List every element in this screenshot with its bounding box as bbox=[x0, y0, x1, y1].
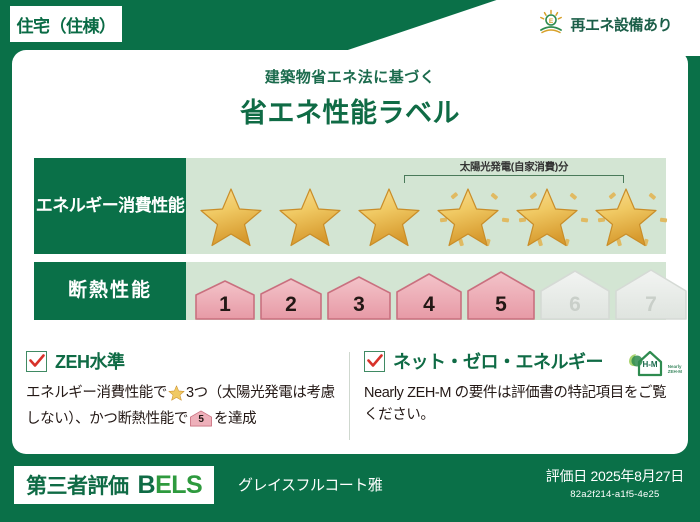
insulation-level-4: 4 bbox=[395, 271, 463, 322]
insulation-level-scale: 1 2 3 bbox=[194, 267, 688, 322]
bels-third-party-label: 第三者評価 bbox=[26, 470, 129, 500]
insulation-levels-area: 1 2 3 bbox=[186, 262, 666, 320]
building-type-label: 住宅（住棟） bbox=[17, 12, 116, 37]
label-subtitle: 建築物省エネ法に基づく bbox=[12, 66, 688, 87]
footer: 第三者評価 BELS グレイスフルコート雅 評価日 2025年8月27日 82a… bbox=[0, 454, 700, 522]
svg-text:E: E bbox=[549, 18, 554, 25]
sun-renewable-icon: E bbox=[538, 9, 564, 40]
star-6-solar bbox=[587, 182, 666, 248]
energy-performance-row: エネルギー消費性能 太陽光発電(自家消費)分 bbox=[34, 158, 666, 254]
insulation-level-5: 5 bbox=[466, 269, 536, 322]
star-3 bbox=[350, 182, 429, 248]
bels-logo: BELS bbox=[138, 471, 203, 500]
renewable-equipment-badge: E 再エネ設備あり bbox=[530, 6, 684, 42]
energy-performance-stars-area: 太陽光発電(自家消費)分 bbox=[186, 158, 666, 254]
svg-text:H-M: H-M bbox=[642, 360, 657, 369]
zeh-m-house-logo: H-M Nearly ZEH-M bbox=[626, 348, 682, 378]
house-level-5-icon: 5 bbox=[189, 410, 213, 427]
evaluation-date: 評価日 2025年8月27日 bbox=[546, 466, 684, 486]
star-rating bbox=[192, 182, 666, 248]
bels-logo-els: ELS bbox=[155, 471, 202, 499]
insulation-level-5-number: 5 bbox=[495, 293, 507, 322]
renewable-badge-label: 再エネ設備あり bbox=[570, 14, 672, 35]
insulation-level-3: 3 bbox=[326, 274, 392, 322]
title-block: 建築物省エネ法に基づく 省エネ性能ラベル bbox=[12, 50, 688, 130]
energy-performance-label-block: エネルギー消費性能 bbox=[34, 158, 186, 254]
bels-certification-chip: 第三者評価 BELS bbox=[14, 466, 214, 504]
page-title: 省エネ性能ラベル bbox=[12, 91, 688, 130]
insulation-level-3-number: 3 bbox=[353, 293, 365, 322]
building-name: グレイスフルコート雅 bbox=[238, 474, 382, 495]
check-icon bbox=[364, 351, 385, 372]
insulation-level-1-number: 1 bbox=[219, 293, 231, 322]
net-zero-energy-description: Nearly ZEH-M の要件は評価書の特記項目をご覧ください。 bbox=[364, 382, 674, 427]
insulation-level-7: 7 bbox=[614, 267, 688, 322]
zeh-standard-title: ZEH水準 bbox=[55, 348, 125, 374]
insulation-level-1: 1 bbox=[194, 278, 256, 322]
insulation-level-6: 6 bbox=[539, 268, 611, 322]
insulation-performance-row: 断熱性能 1 bbox=[34, 262, 666, 320]
solar-annotation-text: 太陽光発電(自家消費)分 bbox=[402, 159, 626, 174]
star-icon bbox=[168, 385, 185, 408]
zeh-m-logo-subtext: Nearly ZEH-M bbox=[668, 364, 682, 378]
main-panel: 建築物省エネ法に基づく 省エネ性能ラベル エネルギー消費性能 太陽光発電(自家消… bbox=[12, 50, 688, 454]
energy-performance-label-text: エネルギー消費性能 bbox=[36, 195, 185, 216]
net-zero-energy-section: ネット・ゼロ・エネルギー H-M Nearly ZEH-M Nearly ZEH… bbox=[350, 346, 688, 450]
star-4-solar bbox=[429, 182, 508, 248]
check-icon bbox=[26, 351, 47, 372]
house-level-5-icon-number: 5 bbox=[189, 410, 213, 427]
net-zero-energy-title: ネット・ゼロ・エネルギー bbox=[393, 348, 603, 374]
bels-logo-b: B bbox=[138, 471, 156, 499]
star-5-solar bbox=[508, 182, 587, 248]
evaluation-id: 82a2f214-a1f5-4e25 bbox=[546, 489, 684, 500]
zeh-sections: ZEH水準 エネルギー消費性能で3つ（太陽光発電は考慮しない）、かつ断熱性能で5… bbox=[12, 346, 688, 450]
star-1 bbox=[192, 182, 271, 248]
insulation-level-2-number: 2 bbox=[285, 293, 297, 322]
insulation-level-4-number: 4 bbox=[423, 293, 435, 322]
insulation-label-text: 断熱性能 bbox=[68, 279, 152, 303]
insulation-level-7-number: 7 bbox=[645, 293, 657, 322]
insulation-level-6-number: 6 bbox=[569, 293, 581, 322]
energy-performance-label: 住宅（住棟） E 再エネ設備あり bbox=[0, 0, 700, 522]
star-2 bbox=[271, 182, 350, 248]
building-type-chip: 住宅（住棟） bbox=[10, 6, 122, 42]
zeh-standard-description: エネルギー消費性能で3つ（太陽光発電は考慮しない）、かつ断熱性能で5を達成 bbox=[26, 382, 336, 431]
header: 住宅（住棟） E 再エネ設備あり bbox=[0, 0, 700, 56]
zeh-standard-text-part1: エネルギー消費性能で bbox=[26, 385, 167, 401]
zeh-standard-text-part3: を達成 bbox=[214, 411, 256, 427]
zeh-standard-heading: ZEH水準 bbox=[26, 346, 336, 376]
zeh-standard-section: ZEH水準 エネルギー消費性能で3つ（太陽光発電は考慮しない）、かつ断熱性能で5… bbox=[12, 346, 350, 450]
insulation-level-2: 2 bbox=[259, 276, 323, 322]
evaluation-info: 評価日 2025年8月27日 82a2f214-a1f5-4e25 bbox=[546, 466, 684, 500]
zeh-m-logo-subtext-line2: ZEH-M bbox=[668, 369, 682, 374]
insulation-label-block: 断熱性能 bbox=[34, 262, 186, 320]
